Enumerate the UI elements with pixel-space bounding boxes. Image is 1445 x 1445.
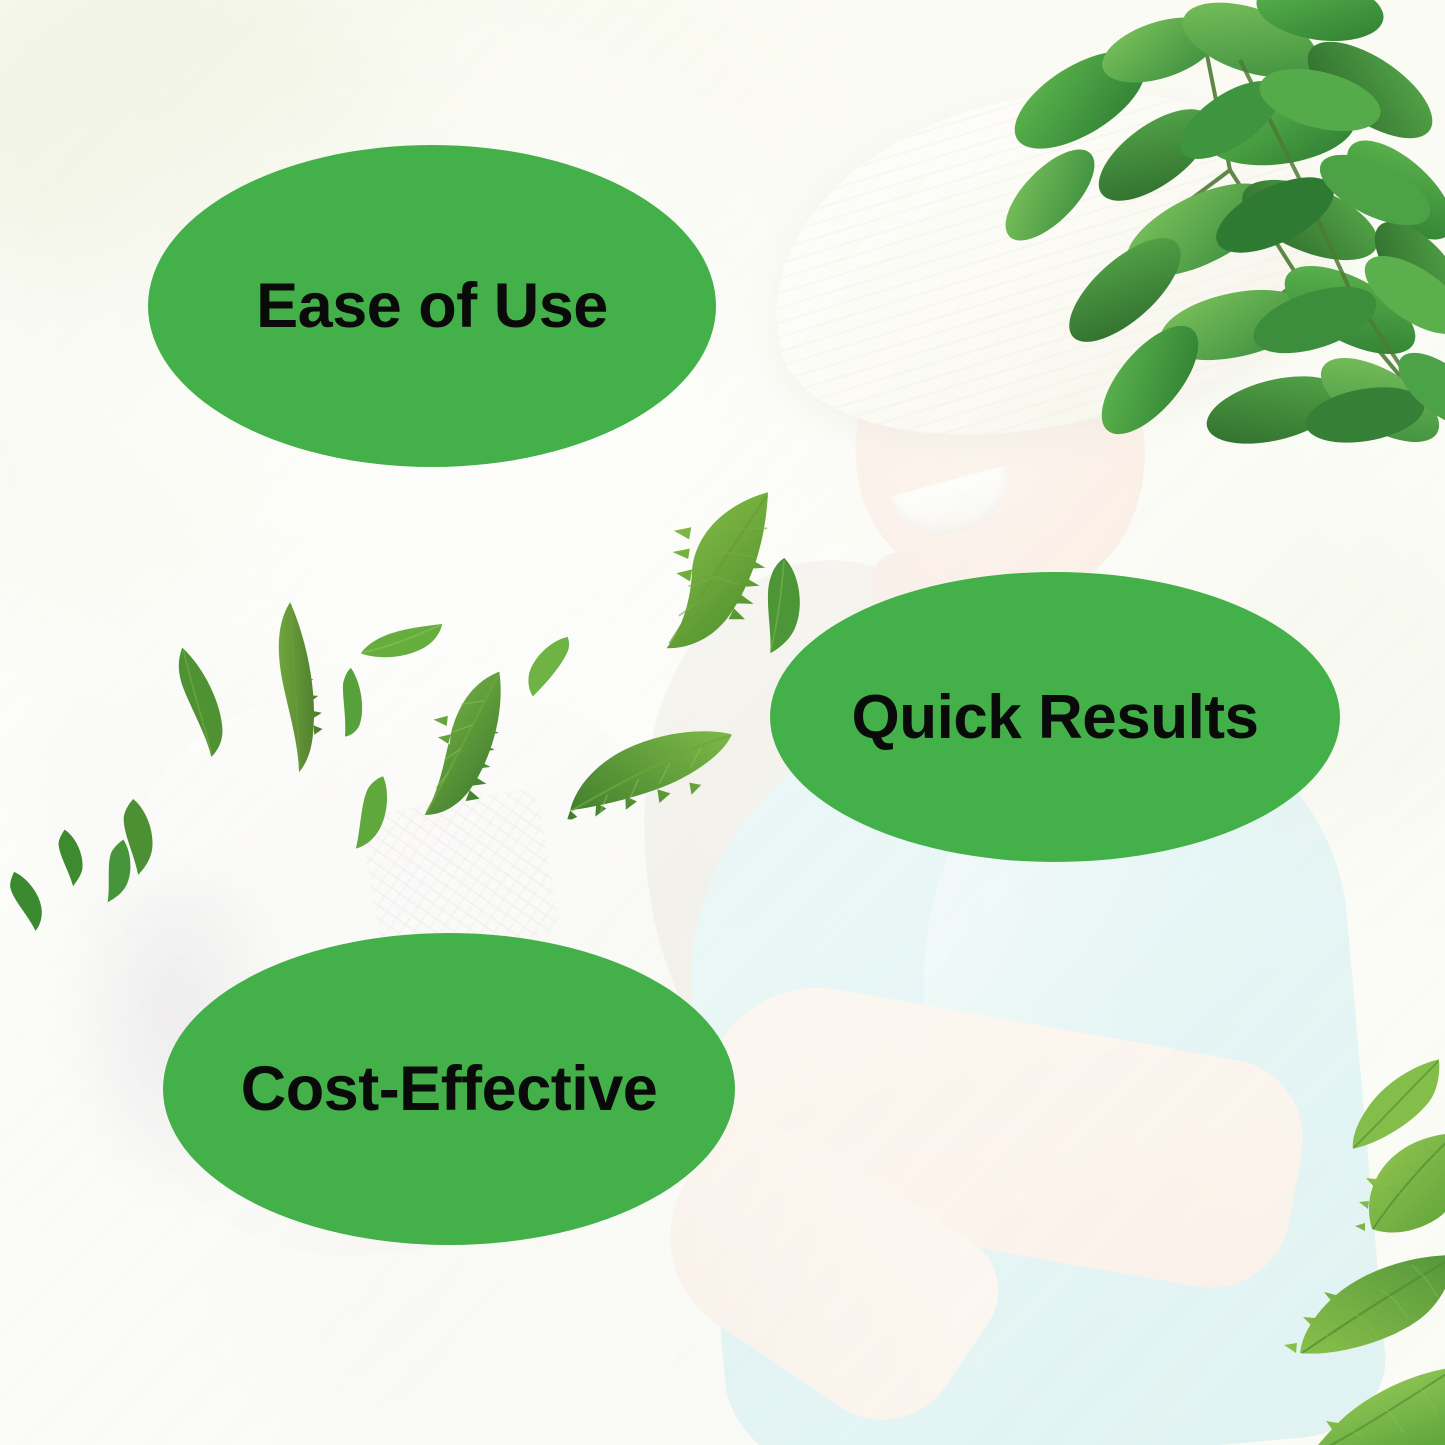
leaf-icon [325, 662, 382, 738]
badge-ease-of-use[interactable]: Ease of Use [148, 145, 716, 467]
leaf-icon [567, 714, 739, 830]
badge-label: Ease of Use [256, 270, 608, 342]
badge-quick-results[interactable]: Quick Results [770, 572, 1340, 862]
promo-graphic: Ease of Use Quick Results Cost-Effective [0, 0, 1445, 1445]
badge-label: Quick Results [852, 682, 1259, 753]
branch-icon [1180, 40, 1445, 460]
badge-cost-effective[interactable]: Cost-Effective [163, 933, 735, 1245]
mint-leaf-icon [1304, 1053, 1445, 1186]
badge-label: Cost-Effective [241, 1053, 658, 1125]
leaf-icon [341, 773, 398, 850]
